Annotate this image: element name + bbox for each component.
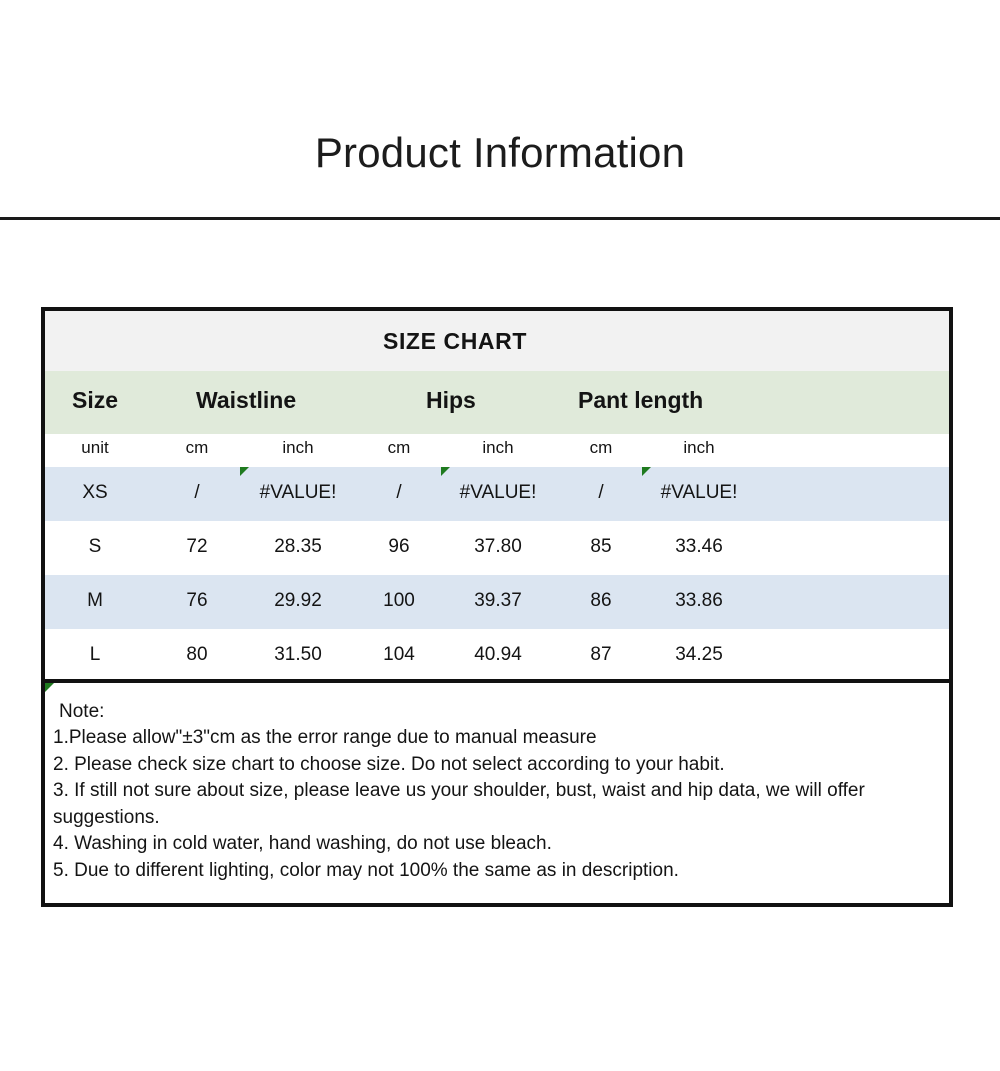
size-chart-title-band: SIZE CHART (45, 311, 949, 371)
cell-pant-in: #VALUE! (661, 482, 738, 504)
column-header-pant-length: Pant length (578, 387, 703, 414)
cell-hips-in: #VALUE! (460, 482, 537, 504)
cell-waist-in: #VALUE! (260, 482, 337, 504)
column-header-waistline: Waistline (196, 387, 296, 414)
cell-hips-in: 39.37 (474, 590, 522, 612)
error-flag-icon (441, 467, 450, 476)
cell-size: XS (82, 482, 107, 504)
table-row: L 80 31.50 104 40.94 87 34.25 (45, 629, 949, 683)
unit-label: unit (81, 438, 108, 458)
notes-heading: Note: (53, 699, 939, 725)
note-line-2: 2. Please check size chart to choose siz… (53, 752, 939, 779)
unit-hips-inch: inch (482, 438, 513, 458)
notes-box: Note: 1.Please allow"±3"cm as the error … (41, 679, 953, 907)
page-header: Product Information (0, 0, 1000, 220)
cell-hips-cm: 104 (383, 644, 415, 666)
cell-size: M (87, 590, 103, 612)
cell-waist-in: 29.92 (274, 590, 322, 612)
header-divider (0, 217, 1000, 220)
cell-pant-cm: 85 (590, 536, 611, 558)
cell-hips-in: 37.80 (474, 536, 522, 558)
unit-pant-cm: cm (590, 438, 613, 458)
error-flag-icon (240, 467, 249, 476)
unit-hips-cm: cm (388, 438, 411, 458)
cell-waist-in: 28.35 (274, 536, 322, 558)
column-header-hips: Hips (426, 387, 476, 414)
cell-hips-cm: 96 (388, 536, 409, 558)
cell-pant-cm: / (598, 482, 603, 504)
unit-waist-inch: inch (282, 438, 313, 458)
error-flag-icon (642, 467, 651, 476)
unit-pant-inch: inch (683, 438, 714, 458)
note-line-1: 1.Please allow"±3"cm as the error range … (53, 725, 939, 752)
cell-waist-cm: / (194, 482, 199, 504)
cell-waist-cm: 76 (186, 590, 207, 612)
note-line-3: 3. If still not sure about size, please … (53, 778, 939, 831)
notes-content: Note: 1.Please allow"±3"cm as the error … (45, 683, 949, 884)
cell-pant-in: 34.25 (675, 644, 723, 666)
size-chart-title: SIZE CHART (3, 328, 907, 355)
table-row-units: unit cm inch cm inch cm inch (45, 434, 949, 467)
cell-hips-cm: / (396, 482, 401, 504)
page-title: Product Information (0, 132, 1000, 174)
note-line-4: 4. Washing in cold water, hand washing, … (53, 831, 939, 858)
cell-pant-in: 33.86 (675, 590, 723, 612)
cell-waist-cm: 80 (186, 644, 207, 666)
cell-hips-in: 40.94 (474, 644, 522, 666)
unit-waist-cm: cm (186, 438, 209, 458)
table-row: XS / #VALUE! / #VALUE! / #VALUE! (45, 467, 949, 521)
error-flag-icon (45, 683, 54, 692)
cell-waist-in: 31.50 (274, 644, 322, 666)
cell-pant-cm: 87 (590, 644, 611, 666)
note-line-5: 5. Due to different lighting, color may … (53, 858, 939, 885)
cell-pant-cm: 86 (590, 590, 611, 612)
table-row: S 72 28.35 96 37.80 85 33.46 (45, 521, 949, 575)
cell-hips-cm: 100 (383, 590, 415, 612)
cell-size: S (89, 536, 102, 558)
cell-size: L (90, 644, 101, 666)
column-header-size: Size (72, 387, 118, 414)
cell-pant-in: 33.46 (675, 536, 723, 558)
size-chart-column-header-row: Size Waistline Hips Pant length (45, 371, 949, 434)
size-chart-table: SIZE CHART Size Waistline Hips Pant leng… (41, 307, 953, 687)
table-row: M 76 29.92 100 39.37 86 33.86 (45, 575, 949, 629)
cell-waist-cm: 72 (186, 536, 207, 558)
